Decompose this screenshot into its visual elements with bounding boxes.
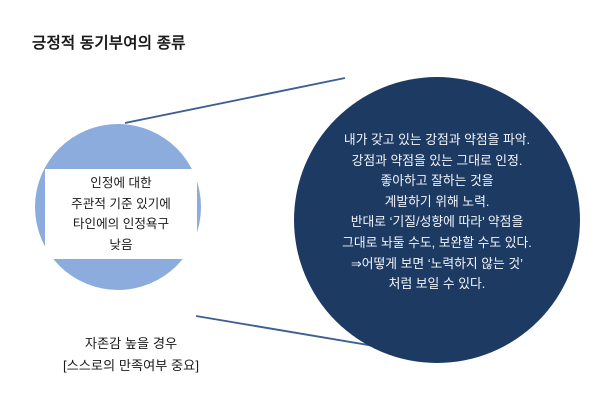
left-textbox-line-1: 인정에 대한 <box>90 173 151 194</box>
slide-canvas: 긍정적 동기부여의 종류 인정에 대한 주관적 기준 있기에 타인에의 인정욕구… <box>0 0 602 418</box>
right-text-line-7: ⇒어떻게 보면 ‘노력하지 않는 것’ <box>351 254 523 275</box>
caption-line-1: 자존감 높을 경우 <box>85 333 177 355</box>
left-textbox-line-3: 타인에의 인정욕구 <box>73 214 169 235</box>
right-text-line-5: 반대로 ‘기질/성향에 따라’ 약점을 <box>351 212 523 233</box>
right-text-line-8: 처럼 보일 수 있다. <box>389 274 486 295</box>
bottom-left-caption: 자존감 높을 경우 [스스로의 만족여부 중요] <box>26 333 236 377</box>
right-text-line-4: 계발하기 위해 노력. <box>385 192 490 213</box>
right-text-line-2: 강점과 약점을 있는 그대로 인정. <box>352 151 523 172</box>
caption-line-2: [스스로의 만족여부 중요] <box>63 355 199 377</box>
page-title: 긍정적 동기부여의 종류 <box>32 31 186 53</box>
left-textbox-line-2: 주관적 기준 있기에 <box>71 194 171 215</box>
right-circle-text: 내가 갖고 있는 강점과 약점을 파악. 강점과 약점을 있는 그대로 인정. … <box>294 130 580 295</box>
right-text-line-6: 그대로 놔둘 수도, 보완할 수도 있다. <box>342 233 532 254</box>
right-text-line-3: 좋아하고 잘하는 것을 <box>380 171 493 192</box>
right-text-line-1: 내가 갖고 있는 강점과 약점을 파악. <box>344 130 530 151</box>
left-textbox-line-4: 낮음 <box>109 235 132 256</box>
left-circle-textbox: 인정에 대한 주관적 기준 있기에 타인에의 인정욕구 낮음 <box>45 169 197 259</box>
upper-connector-line <box>125 78 345 123</box>
